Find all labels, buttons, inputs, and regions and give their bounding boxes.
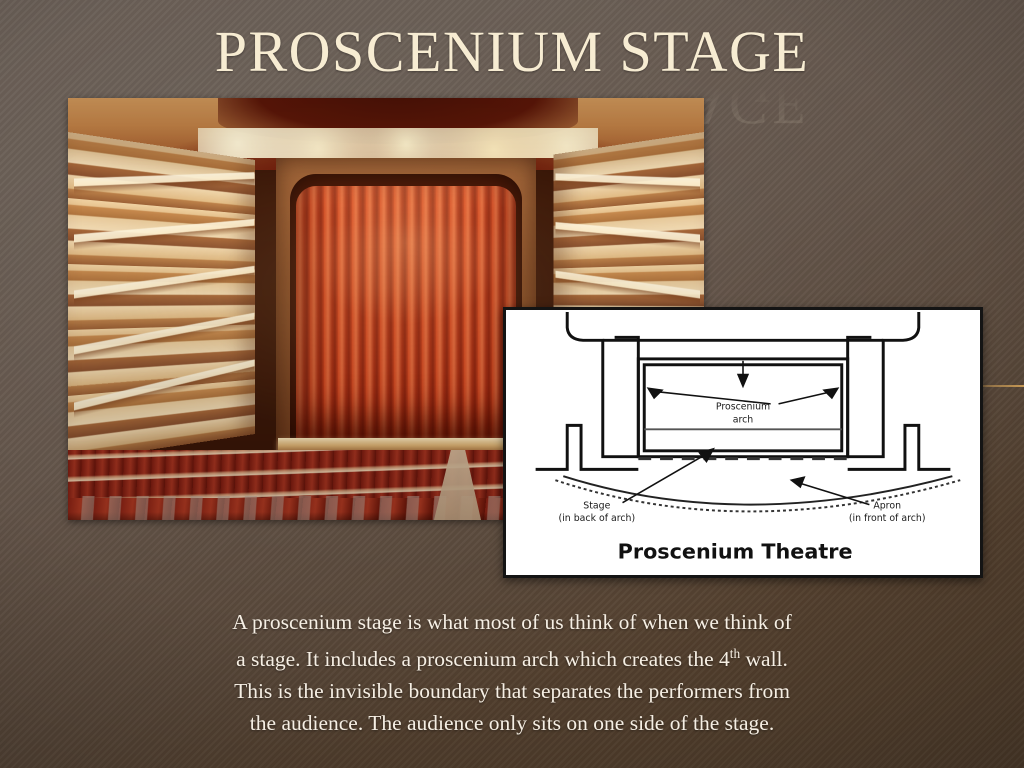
diagram-label-stage-line1: Stage — [583, 501, 610, 512]
body-line-4: the audience. The audience only sits on … — [150, 707, 874, 739]
diagram-label-arch-line2: arch — [733, 414, 754, 425]
body-line-2-tail: wall. — [740, 647, 788, 671]
body-line-2: a stage. It includes a proscenium arch w… — [150, 638, 874, 675]
proscenium-theatre-diagram: Proscenium arch Stage (in back of arch) … — [503, 307, 983, 578]
diagram-label-arch-line1: Proscenium — [716, 402, 770, 413]
body-line-2-superscript: th — [730, 646, 740, 661]
diagram-label-apron-line2: (in front of arch) — [849, 513, 926, 524]
diagram-stage-floor — [536, 425, 951, 469]
body-paragraph: A proscenium stage is what most of us th… — [150, 606, 874, 739]
diagram-label-stage-line2: (in back of arch) — [559, 513, 636, 524]
diagram-label-apron-line1: Apron — [873, 501, 901, 512]
body-line-3: This is the invisible boundary that sepa… — [150, 675, 874, 707]
page-title: PROSCENIUM STAGE — [0, 22, 1024, 81]
body-line-2-main: a stage. It includes a proscenium arch w… — [236, 647, 730, 671]
body-line-1: A proscenium stage is what most of us th… — [150, 606, 874, 638]
diagram-title: Proscenium Theatre — [618, 539, 853, 563]
diagram-arch-arrows — [648, 361, 838, 404]
diagram-svg: Proscenium arch Stage (in back of arch) … — [506, 310, 980, 575]
slide-canvas: PROSCENIUM STAGE PROSCENIUM STAGE — [0, 0, 1024, 768]
